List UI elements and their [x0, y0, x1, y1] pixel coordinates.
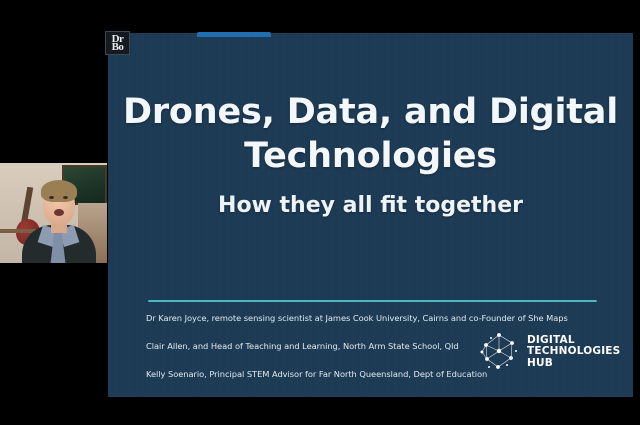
screen-share-view: Drones, Data, and Digital Technologies H… — [0, 0, 640, 425]
meeting-logo-badge[interactable]: Dr Bo — [105, 31, 130, 55]
presenter-video-thumbnail[interactable] — [0, 163, 107, 263]
person-eye-right — [63, 196, 68, 199]
meeting-logo-mark: Dr Bo — [112, 35, 124, 51]
credit-line: Clair Allen, and Head of Teaching and Le… — [146, 341, 476, 352]
slide-title-line-2: Technologies — [108, 134, 633, 178]
person-mouth — [54, 209, 64, 216]
slide-title-line-1: Drones, Data, and Digital — [108, 90, 633, 134]
presenter-credits: Dr Karen Joyce, remote sensing scientist… — [146, 313, 476, 380]
network-nodes-icon — [478, 331, 520, 373]
person-hair — [41, 180, 77, 202]
credit-line: Dr Karen Joyce, remote sensing scientist… — [146, 313, 476, 324]
meeting-logo-line-2: Bo — [112, 41, 124, 53]
digital-technologies-hub-logo: DIGITAL TECHNOLOGIES HUB — [478, 331, 620, 373]
slide-divider — [148, 300, 597, 302]
screen-share-indicator-bar — [197, 32, 271, 37]
person-eye-left — [49, 196, 54, 199]
logo-wordmark: DIGITAL TECHNOLOGIES HUB — [527, 335, 620, 370]
slide-subtitle: How they all fit together — [108, 192, 633, 220]
credit-line: Kelly Soenario, Principal STEM Advisor f… — [146, 369, 476, 380]
presentation-slide: Drones, Data, and Digital Technologies H… — [108, 33, 633, 397]
slide-title-block: Drones, Data, and Digital Technologies H… — [108, 90, 633, 220]
logo-line-3: HUB — [527, 358, 620, 370]
